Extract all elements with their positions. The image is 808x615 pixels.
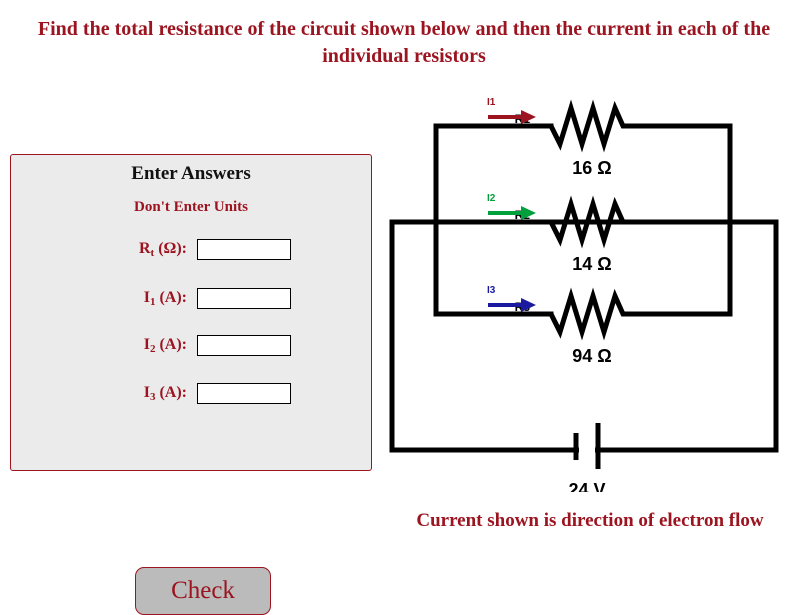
current-arrow-i1: I1: [487, 97, 536, 124]
field-row-i2: I2 (A):: [11, 333, 371, 357]
footnote-text: Current shown is direction of electron f…: [390, 510, 790, 532]
current-arrow-label-i3: I3: [487, 285, 496, 296]
resistor-symbol-r1: [551, 108, 629, 144]
field-label-i3-sub: 3: [150, 391, 156, 403]
field-label-i1: I1 (A):: [11, 289, 197, 307]
circuit-svg: R1 R2 R3 16 Ω 14 Ω 94 Ω I1 I2 I3 24 V: [380, 92, 800, 492]
field-label-i3-unit: (A):: [155, 384, 187, 401]
resistor-symbol-r3: [551, 296, 629, 332]
wire-branch-r3-right: [629, 222, 730, 314]
field-label-rt-sub: t: [151, 247, 155, 259]
current-arrow-i2: I2: [487, 193, 536, 220]
field-label-i2-sub: 2: [150, 343, 156, 355]
panel-heading: Enter Answers: [11, 163, 371, 185]
field-label-rt-unit: (Ω):: [154, 240, 187, 257]
wire-branch-r1-right: [629, 126, 730, 222]
resistor-value-r3: 94 Ω: [572, 346, 611, 366]
field-row-i1: I1 (A):: [11, 286, 371, 310]
current-arrow-label-i2: I2: [487, 193, 496, 204]
battery-gap: [579, 445, 595, 456]
field-row-rt: Rt (Ω):: [11, 237, 371, 261]
input-rt[interactable]: [197, 239, 291, 260]
check-button[interactable]: Check: [135, 567, 271, 615]
field-label-i3: I3 (A):: [11, 384, 197, 402]
field-row-i3: I3 (A):: [11, 381, 371, 405]
field-label-rt-main: R: [139, 240, 151, 257]
resistor-value-r2: 14 Ω: [572, 254, 611, 274]
battery-value-label: 24 V: [568, 480, 605, 492]
panel-subheading: Don't Enter Units: [11, 199, 371, 216]
answer-panel: Enter Answers Don't Enter Units Rt (Ω): …: [10, 154, 372, 471]
field-label-i1-unit: (A):: [155, 289, 187, 306]
current-arrow-i3: I3: [487, 285, 536, 312]
input-i3[interactable]: [197, 383, 291, 404]
wire-branch-r3-left: [436, 222, 551, 314]
page-title: Find the total resistance of the circuit…: [20, 16, 788, 70]
field-label-rt: Rt (Ω):: [11, 240, 197, 258]
input-i2[interactable]: [197, 335, 291, 356]
field-label-i2: I2 (A):: [11, 336, 197, 354]
resistor-value-r1: 16 Ω: [572, 158, 611, 178]
field-label-i1-sub: 1: [150, 296, 156, 308]
field-label-i2-unit: (A):: [155, 336, 187, 353]
circuit-diagram: R1 R2 R3 16 Ω 14 Ω 94 Ω I1 I2 I3 24 V: [380, 92, 800, 492]
current-arrow-label-i1: I1: [487, 97, 496, 108]
input-i1[interactable]: [197, 288, 291, 309]
